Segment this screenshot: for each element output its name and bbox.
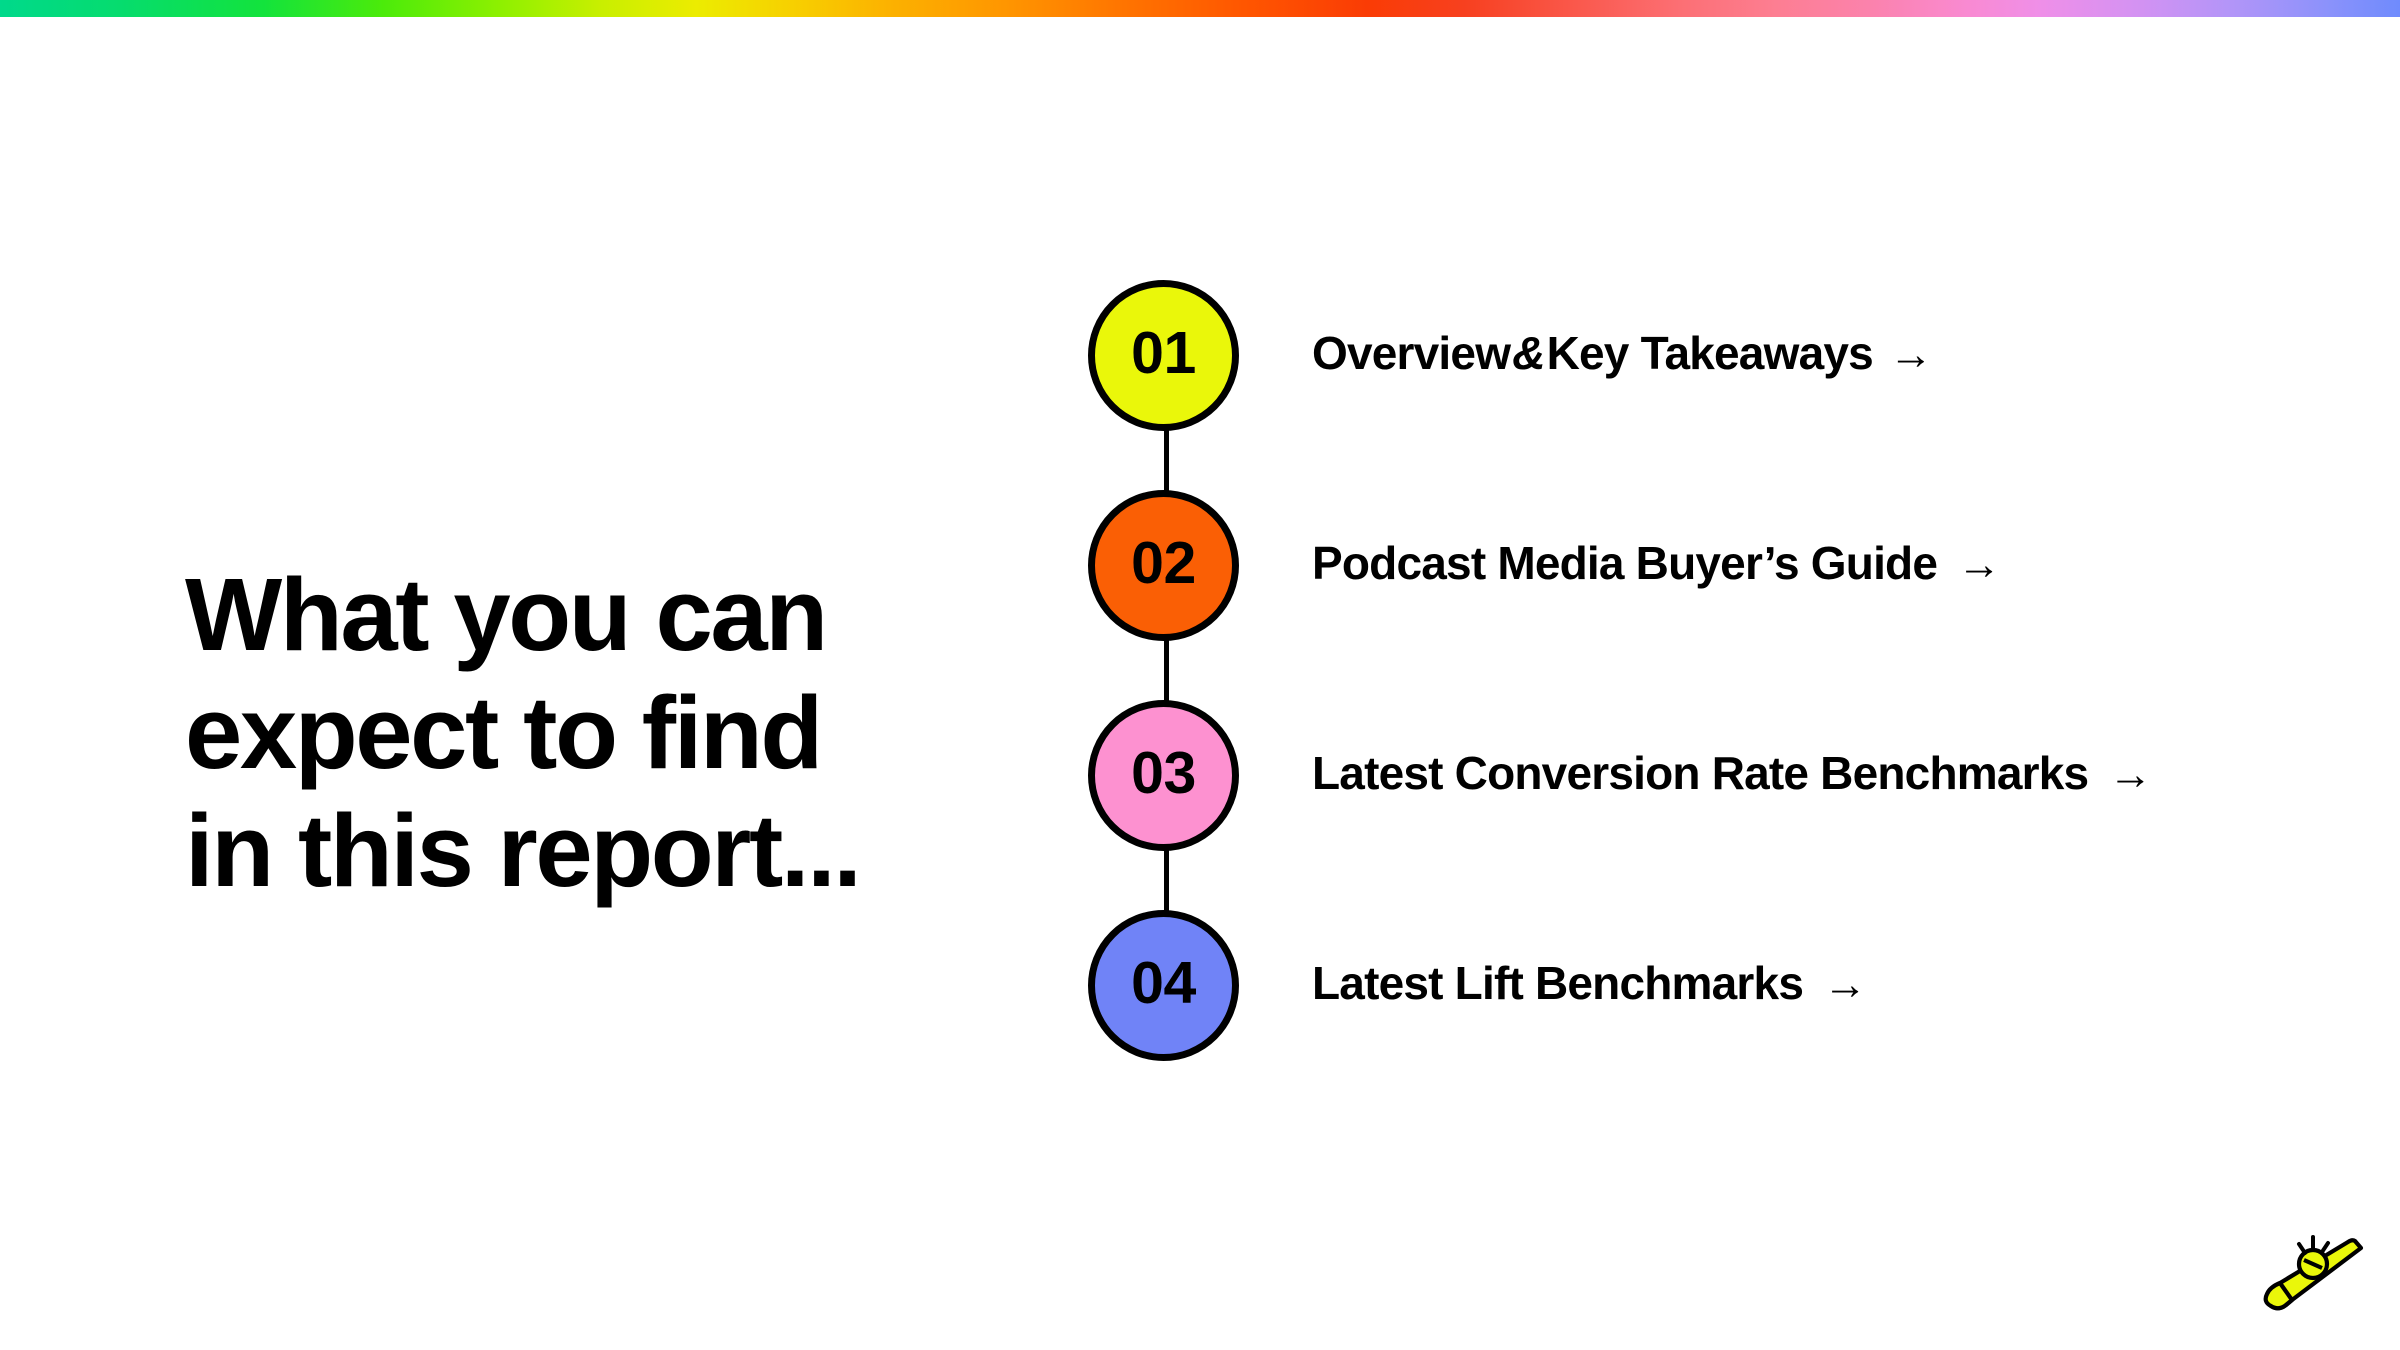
step-label-text-part1: Overview: [1312, 326, 1510, 380]
step-bubble-01[interactable]: 01: [1088, 280, 1239, 431]
page-title: What you can expect to find in this repo…: [185, 556, 1025, 910]
step-label-03[interactable]: Latest Conversion Rate Benchmarks →: [1312, 746, 2152, 800]
list-item[interactable]: 04 Latest Lift Benchmarks →: [1088, 910, 2338, 1070]
list-item[interactable]: 02 Podcast Media Buyer’s Guide →: [1088, 490, 2338, 700]
step-label-01[interactable]: Overview & Key Takeaways →: [1312, 326, 1933, 380]
step-label-text-part1: Latest Conversion Rate Benchmarks: [1312, 746, 2088, 800]
step-number: 01: [1131, 324, 1196, 383]
step-number: 04: [1131, 954, 1196, 1013]
list-item[interactable]: 03 Latest Conversion Rate Benchmarks →: [1088, 700, 2338, 910]
step-label-text-part1: Podcast Media Buyer’s Guide: [1312, 536, 1937, 590]
connector-line: [1164, 640, 1169, 705]
step-label-text-part2: Key Takeaways: [1547, 326, 1873, 380]
report-contents-list: 01 Overview & Key Takeaways → 02 Podcast…: [1088, 280, 2338, 1070]
connector-line: [1164, 850, 1169, 915]
step-bubble-04[interactable]: 04: [1088, 910, 1239, 1061]
step-bubble-03[interactable]: 03: [1088, 700, 1239, 851]
ampersand: &: [1510, 326, 1546, 380]
arrow-right-icon: →: [2108, 750, 2152, 800]
kazoo-logo: [2258, 1228, 2366, 1328]
arrow-right-icon: →: [1823, 960, 1867, 1010]
slide-canvas: What you can expect to find in this repo…: [0, 17, 2400, 1350]
list-item[interactable]: 01 Overview & Key Takeaways →: [1088, 280, 2338, 490]
step-bubble-02[interactable]: 02: [1088, 490, 1239, 641]
step-label-text-part1: Latest Lift Benchmarks: [1312, 956, 1803, 1010]
rainbow-gradient-bar: [0, 0, 2400, 17]
step-number: 02: [1131, 534, 1196, 593]
step-label-04[interactable]: Latest Lift Benchmarks →: [1312, 956, 1867, 1010]
step-number: 03: [1131, 744, 1196, 803]
arrow-right-icon: →: [1889, 330, 1933, 380]
connector-line: [1164, 430, 1169, 495]
step-label-02[interactable]: Podcast Media Buyer’s Guide →: [1312, 536, 2001, 590]
arrow-right-icon: →: [1957, 540, 2001, 590]
